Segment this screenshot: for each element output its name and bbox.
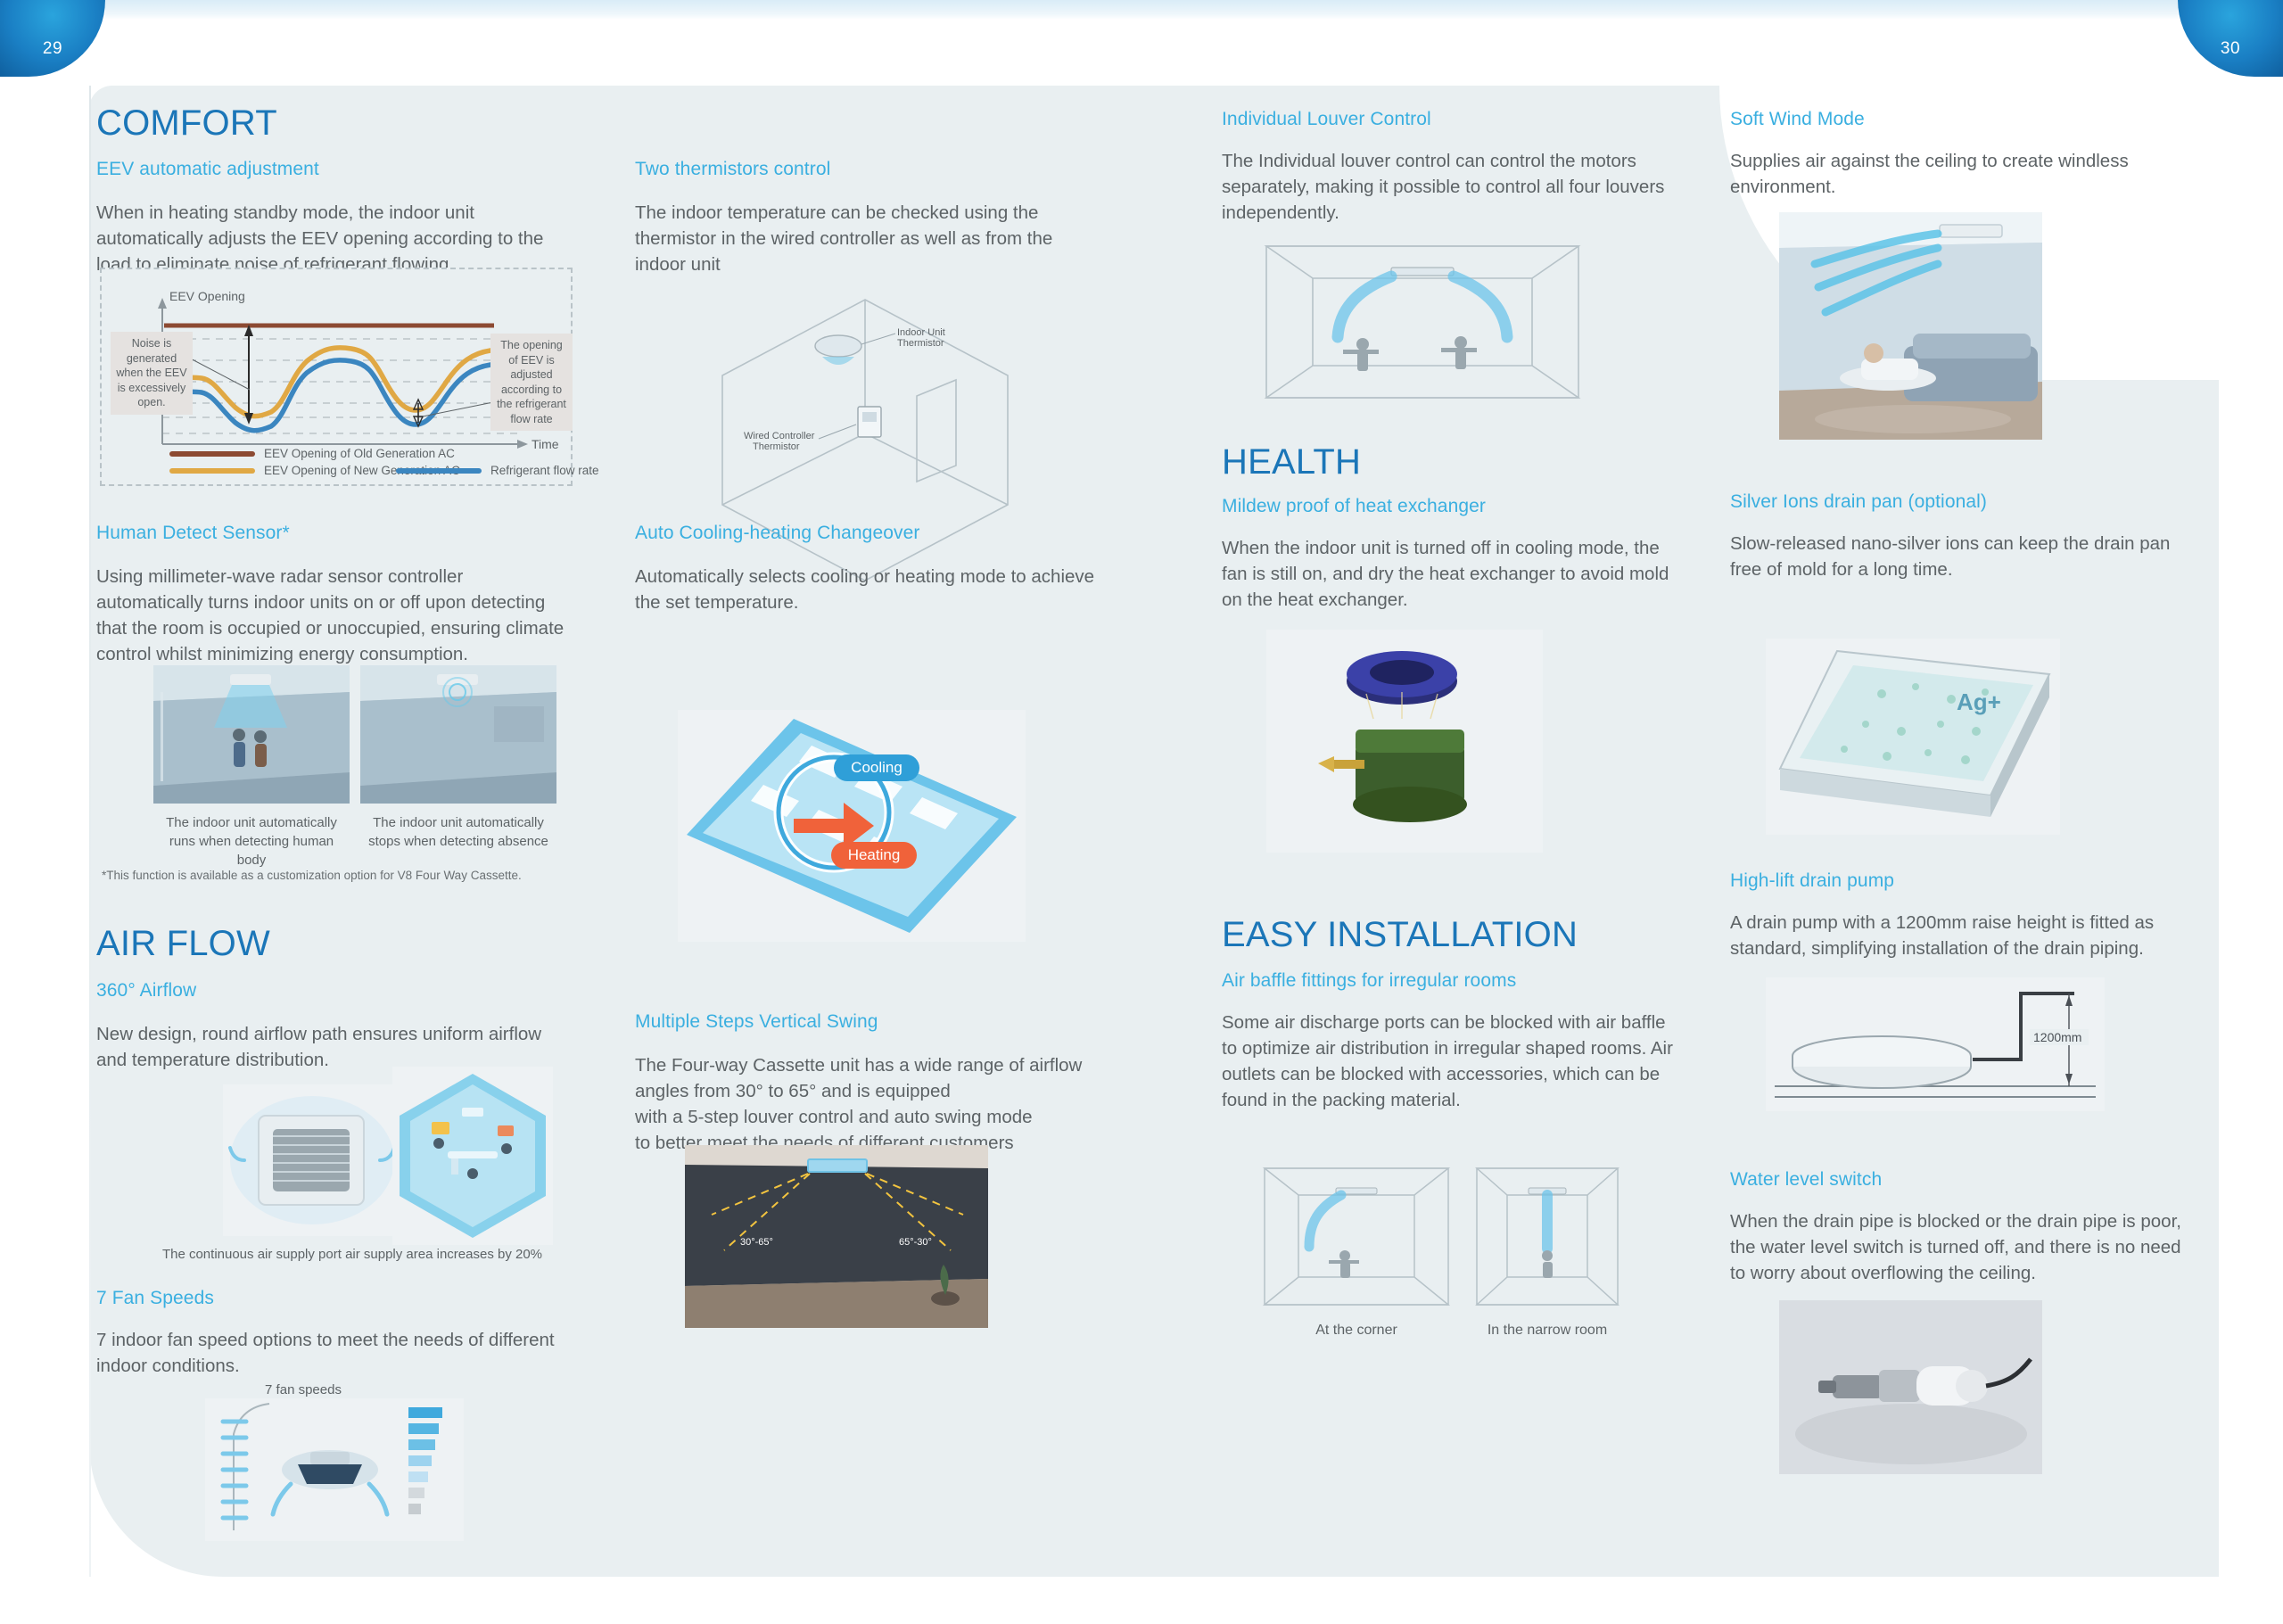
feature-human-detect: Human Detect Sensor* Using millimeter-wa…: [96, 523, 569, 667]
vertical-swing-photo: 30°-65° 65°-30°: [685, 1145, 988, 1328]
cooling-heating-illustration: Cooling Heating: [678, 710, 1026, 942]
chart-annotation-left: Noise is generated when the EEV is exces…: [111, 332, 193, 415]
section-air-flow: AIR FLOW: [96, 924, 270, 964]
feature-silver-ions: Silver Ions drain pan (optional) Slow-re…: [1730, 491, 2176, 582]
room-person-present-icon: [153, 665, 350, 804]
feature-body-human-detect: Using millimeter-wave radar sensor contr…: [96, 564, 569, 667]
ceiling-cassette-icon: [223, 1084, 401, 1236]
legend-swatch-new-icon: [169, 468, 255, 474]
content-sheet: COMFORT EEV automatic adjustment When in…: [89, 86, 2219, 1577]
room-airflow-angles-icon: 30°-65° 65°-30°: [685, 1145, 988, 1328]
living-room-soft-wind-icon: [1779, 212, 2042, 440]
feature-title-fan-speeds: 7 Fan Speeds: [96, 1288, 569, 1309]
room-four-louvers-icon: [1257, 237, 1587, 407]
section-easy-installation: EASY INSTALLATION: [1222, 915, 1578, 955]
chart-ylabel: EEV Opening: [169, 289, 245, 304]
feature-title-airflow360: 360° Airflow: [96, 980, 569, 1002]
top-edge-band-left: [105, 0, 1141, 20]
room-corner-baffle-icon: [1259, 1163, 1454, 1310]
room-person-absent-icon: [360, 665, 556, 804]
label-wired-thermistor: Wired Controller: [744, 431, 815, 441]
feature-water-switch: Water level switch When the drain pipe i…: [1730, 1169, 2185, 1286]
section-title-easy-installation: EASY INSTALLATION: [1222, 915, 1578, 955]
soft-wind-photo: [1779, 212, 2042, 440]
cassette-unit-illustration: [223, 1084, 401, 1236]
feature-title-human-detect: Human Detect Sensor*: [96, 523, 569, 544]
louver-room-diagram: [1257, 237, 1587, 407]
feature-mildew: Mildew proof of heat exchanger When the …: [1222, 496, 1677, 613]
silver-ions-drain-pan-illustration: Ag+: [1766, 639, 2060, 835]
label-cooling: Cooling: [834, 754, 919, 781]
human-detect-photo-active: [153, 665, 350, 804]
feature-title-drain-pump: High-lift drain pump: [1730, 870, 2176, 892]
heat-exchanger-illustration: [1266, 630, 1543, 853]
caption-human-detect-active: The indoor unit automatically runs when …: [153, 813, 350, 870]
chart-xlabel: Time: [532, 437, 559, 451]
feature-title-water-switch: Water level switch: [1730, 1169, 2185, 1191]
svg-text:Thermistor: Thermistor: [897, 338, 944, 349]
feature-body-air-baffle: Some air discharge ports can be blocked …: [1222, 1010, 1685, 1113]
feature-title-thermistors: Two thermistors control: [635, 159, 1099, 180]
feature-thermistors: Two thermistors control The indoor tempe…: [635, 159, 1099, 277]
silver-ion-badge-label: Ag+: [1957, 688, 2001, 715]
air-baffle-narrow-diagram: [1471, 1163, 1623, 1310]
section-comfort: COMFORT: [96, 103, 277, 144]
feature-soft-wind: Soft Wind Mode Supplies air against the …: [1730, 109, 2176, 200]
feature-drain-pump: High-lift drain pump A drain pump with a…: [1730, 870, 2176, 961]
angle-label-right: 65°-30°: [899, 1237, 932, 1248]
feature-title-eev: EEV automatic adjustment: [96, 159, 569, 180]
fan-speed-diagram: [205, 1398, 464, 1541]
water-level-switch-icon: [1779, 1300, 2042, 1474]
page-number-left: 29: [0, 0, 105, 77]
legend-item-flow: Refrigerant flow rate: [396, 464, 599, 477]
label-indoor-thermistor: Indoor Unit: [897, 327, 945, 338]
office-airflow-illustration: [392, 1067, 553, 1245]
fan-speed-scale-icon: [205, 1398, 464, 1541]
feature-title-silver-ions: Silver Ions drain pan (optional): [1730, 491, 2176, 513]
feature-body-airflow360: New design, round airflow path ensures u…: [96, 1021, 569, 1073]
water-level-switch-photo: [1779, 1300, 2042, 1474]
legend-swatch-flow-icon: [396, 468, 482, 474]
svg-text:Thermistor: Thermistor: [753, 441, 800, 452]
footnote-human-detect: *This function is available as a customi…: [102, 869, 522, 882]
feature-body-louver: The Individual louver control can contro…: [1222, 148, 1677, 226]
room-narrow-baffle-icon: [1471, 1163, 1623, 1310]
caption-air-baffle-corner: At the corner: [1259, 1321, 1454, 1340]
feature-body-soft-wind: Supplies air against the ceiling to crea…: [1730, 148, 2176, 200]
angle-label-left: 30°-65°: [740, 1237, 773, 1248]
brochure-spread: 29 30 COMFORT EEV automatic adjustment W…: [0, 0, 2283, 1624]
top-edge-band-right: [1141, 0, 2178, 20]
feature-body-thermistors: The indoor temperature can be checked us…: [635, 200, 1099, 277]
page-number-right: 30: [2178, 0, 2283, 77]
caption-airflow360: The continuous air supply port air suppl…: [143, 1245, 562, 1264]
feature-body-changeover: Automatically selects cooling or heating…: [635, 564, 1099, 615]
feature-title-louver: Individual Louver Control: [1222, 109, 1677, 130]
feature-title-mildew: Mildew proof of heat exchanger: [1222, 496, 1677, 517]
feature-title-vertical-swing: Multiple Steps Vertical Swing: [635, 1011, 1134, 1033]
feature-airflow360: 360° Airflow New design, round airflow p…: [96, 980, 569, 1073]
feature-title-air-baffle: Air baffle fittings for irregular rooms: [1222, 970, 1685, 992]
feature-air-baffle: Air baffle fittings for irregular rooms …: [1222, 970, 1685, 1113]
feature-title-changeover: Auto Cooling-heating Changeover: [635, 523, 1099, 544]
label-heating: Heating: [831, 842, 917, 869]
drain-pump-dimension-label: 1200mm: [2033, 1030, 2081, 1044]
office-room-isometric-icon: [392, 1067, 553, 1245]
feature-body-eev: When in heating standby mode, the indoor…: [96, 200, 569, 277]
feature-body-water-switch: When the drain pipe is blocked or the dr…: [1730, 1208, 2185, 1286]
legend-label-flow: Refrigerant flow rate: [490, 464, 599, 477]
legend-item-old: EEV Opening of Old Generation AC: [169, 447, 455, 460]
feature-fan-speeds: 7 Fan Speeds 7 indoor fan speed options …: [96, 1288, 569, 1379]
feature-louver: Individual Louver Control The Individual…: [1222, 109, 1677, 226]
drain-pan-icon: Ag+: [1766, 639, 2060, 835]
caption-human-detect-absent: The indoor unit automatically stops when…: [360, 813, 556, 851]
human-detect-photo-absent: [360, 665, 556, 804]
drain-pump-diagram: 1200mm: [1766, 977, 2105, 1111]
section-health: HEALTH: [1222, 442, 1361, 482]
chart-annotation-right: The opening of EEV is adjusted according…: [490, 334, 573, 431]
feature-changeover: Auto Cooling-heating Changeover Automati…: [635, 523, 1099, 615]
label-fan-speeds-diagram: 7 fan speeds: [223, 1381, 383, 1399]
feature-body-vertical-swing: The Four-way Cassette unit has a wide ra…: [635, 1052, 1134, 1156]
feature-eev: EEV automatic adjustment When in heating…: [96, 159, 569, 277]
heat-exchanger-fan-icon: [1266, 630, 1543, 853]
legend-label-old: EEV Opening of Old Generation AC: [264, 447, 455, 460]
feature-body-silver-ions: Slow-released nano-silver ions can keep …: [1730, 531, 2176, 582]
eev-chart: EEV Opening Time Noise is generated when…: [100, 268, 573, 486]
feature-body-mildew: When the indoor unit is turned off in co…: [1222, 535, 1677, 613]
feature-body-drain-pump: A drain pump with a 1200mm raise height …: [1730, 910, 2176, 961]
section-title-health: HEALTH: [1222, 442, 1361, 482]
feature-body-fan-speeds: 7 indoor fan speed options to meet the n…: [96, 1327, 569, 1379]
air-baffle-corner-diagram: [1259, 1163, 1454, 1310]
feature-title-soft-wind: Soft Wind Mode: [1730, 109, 2176, 130]
legend-swatch-old-icon: [169, 451, 255, 457]
feature-vertical-swing: Multiple Steps Vertical Swing The Four-w…: [635, 1011, 1134, 1156]
drain-pump-lift-icon: 1200mm: [1766, 977, 2105, 1111]
section-title-comfort: COMFORT: [96, 103, 277, 144]
caption-air-baffle-narrow: In the narrow room: [1471, 1321, 1623, 1340]
section-title-air-flow: AIR FLOW: [96, 924, 270, 964]
